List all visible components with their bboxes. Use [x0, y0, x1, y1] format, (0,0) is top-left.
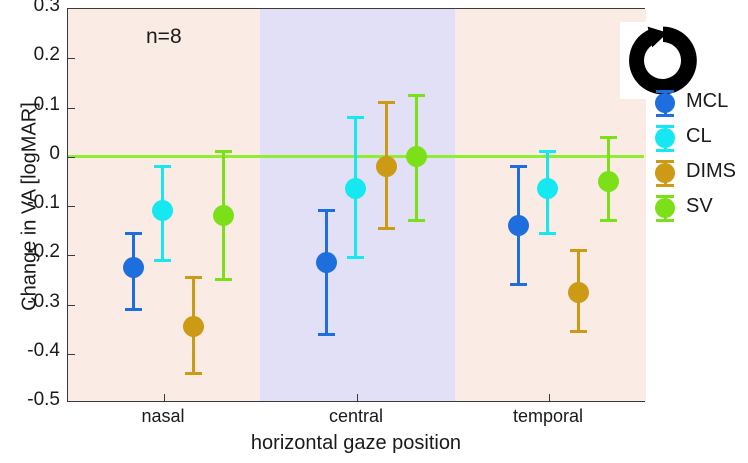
error-bar-cap-upper	[215, 150, 232, 153]
error-bar-cap-upper	[125, 232, 142, 235]
x-axis-tick-label-central: central	[286, 406, 426, 427]
y-axis-tick	[68, 108, 75, 109]
data-marker	[537, 178, 558, 199]
x-axis-tick	[549, 394, 550, 401]
legend-item-MCL[interactable]: MCL	[648, 86, 748, 121]
x-axis-tick	[164, 394, 165, 401]
background-band-central	[260, 9, 455, 401]
error-bar-cap-lower	[185, 372, 202, 375]
y-axis-tick-label: -0.5	[4, 389, 60, 411]
error-bar-cap-lower	[510, 283, 527, 286]
error-bar-cap-lower	[539, 232, 556, 235]
legend-label: DIMS	[686, 160, 736, 183]
error-bar-cap-upper	[408, 94, 425, 97]
error-bar-cap-upper	[318, 209, 335, 212]
data-marker	[345, 178, 366, 199]
plot-area: n=8	[67, 8, 645, 402]
error-bar-cap-lower	[600, 219, 617, 222]
error-bar-cap-upper	[570, 249, 587, 252]
legend-item-CL[interactable]: CL	[648, 121, 748, 156]
error-bar-cap-upper	[154, 165, 171, 168]
data-marker	[598, 171, 619, 192]
data-marker	[183, 316, 204, 337]
data-marker	[213, 205, 234, 226]
legend-label: SV	[686, 195, 713, 218]
legend-item-DIMS[interactable]: DIMS	[648, 156, 748, 191]
error-bar-cap-upper	[600, 136, 617, 139]
data-marker	[152, 200, 173, 221]
error-bar-cap-lower	[154, 259, 171, 262]
error-bar-cap-upper	[347, 116, 364, 119]
error-bar-cap-lower	[215, 278, 232, 281]
y-axis-tick	[68, 206, 75, 207]
error-bar-cap-lower	[125, 308, 142, 311]
figure-root: Change in VA [logMAR] 0.30.20.10-0.1-0.2…	[0, 0, 748, 463]
legend-marker-icon	[654, 121, 676, 156]
sample-size-annotation: n=8	[146, 25, 182, 49]
y-axis-tick-label: 0.3	[4, 0, 60, 17]
data-marker	[123, 257, 144, 278]
y-axis-tick-label: -0.3	[4, 291, 60, 313]
error-bar-cap-upper	[510, 165, 527, 168]
legend-label: CL	[686, 125, 712, 148]
y-axis-tick-label: -0.4	[4, 340, 60, 362]
error-bar-cap-upper	[378, 101, 395, 104]
background-band-temporal	[455, 9, 646, 401]
y-axis-tick	[68, 354, 75, 355]
error-bar-cap-lower	[570, 330, 587, 333]
data-marker	[406, 146, 427, 167]
y-axis-tick-label: 0.2	[4, 44, 60, 66]
legend-marker-icon	[654, 191, 676, 226]
y-axis-tick	[68, 255, 75, 256]
legend-label: MCL	[686, 90, 728, 113]
x-axis-tick-label-nasal: nasal	[93, 406, 233, 427]
legend-item-SV[interactable]: SV	[648, 191, 748, 226]
x-axis-title: horizontal gaze position	[67, 432, 645, 455]
y-axis-tick	[68, 305, 75, 306]
legend: MCLCLDIMSSV	[648, 86, 748, 226]
y-axis-tick-label: -0.1	[4, 192, 60, 214]
error-bar-cap-upper	[539, 150, 556, 153]
data-marker	[568, 282, 589, 303]
y-axis-tick	[68, 157, 75, 158]
data-marker	[376, 156, 397, 177]
y-axis-tick-label: -0.2	[4, 241, 60, 263]
error-bar-cap-lower	[347, 256, 364, 259]
y-axis-tick-label: 0.1	[4, 94, 60, 116]
legend-marker-icon	[654, 156, 676, 191]
x-axis-tick	[357, 394, 358, 401]
error-bar-cap-lower	[408, 219, 425, 222]
x-axis-tick-label-temporal: temporal	[478, 406, 618, 427]
legend-marker-icon	[654, 86, 676, 121]
y-axis-tick	[68, 58, 75, 59]
error-bar-cap-lower	[378, 227, 395, 230]
y-axis-tick-label: 0	[4, 143, 60, 165]
data-marker	[508, 215, 529, 236]
data-marker	[316, 252, 337, 273]
error-bar-cap-lower	[318, 333, 335, 336]
error-bar-cap-upper	[185, 276, 202, 279]
